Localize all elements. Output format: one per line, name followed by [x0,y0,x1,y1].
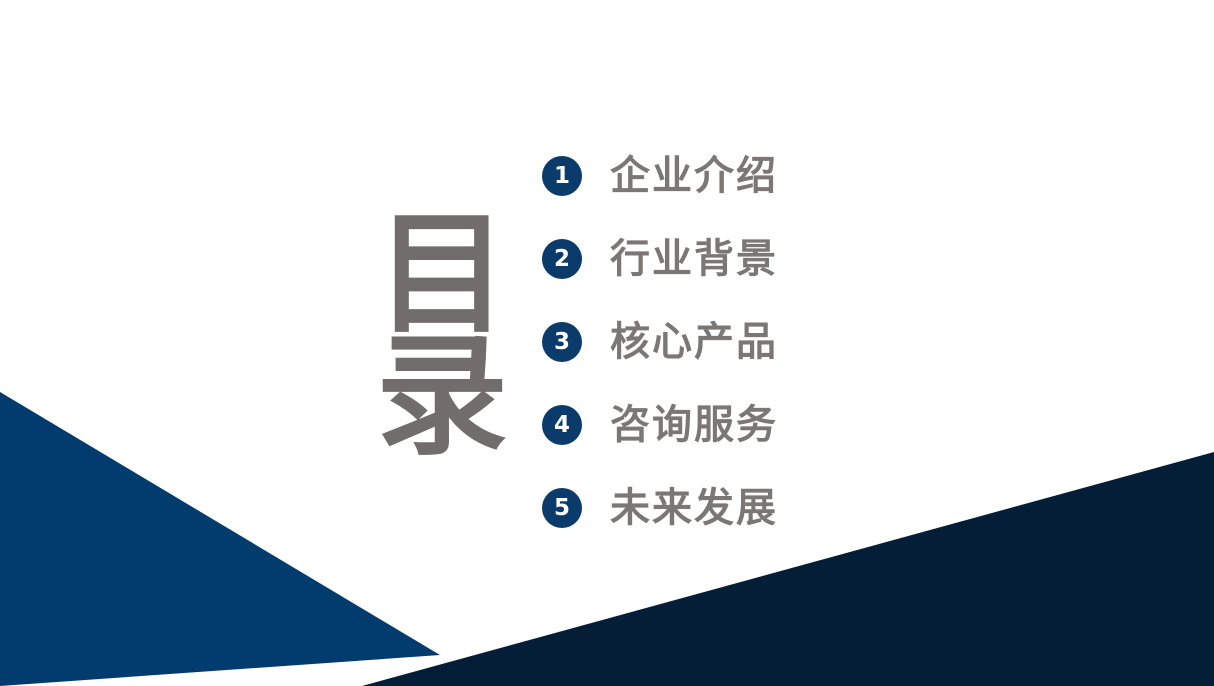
agenda-slide: 目 录 1 企业介绍 2 行业背景 3 核心产品 4 咨询服务 [0,0,1214,686]
agenda-item-label: 行业背景 [610,237,778,281]
agenda-item-label: 核心产品 [610,320,778,364]
badge-number: 5 [542,488,582,528]
list-item[interactable]: 2 行业背景 [538,217,778,300]
number-badge-icon: 5 [542,488,582,528]
badge-number: 2 [542,239,582,279]
agenda-item-label: 未来发展 [610,486,778,530]
number-badge-icon: 3 [542,322,582,362]
title-char-1: 目 [372,214,512,336]
number-badge-icon: 2 [542,239,582,279]
badge-number: 3 [542,322,582,362]
agenda-list: 1 企业介绍 2 行业背景 3 核心产品 4 咨询服务 5 未 [538,134,778,549]
list-item[interactable]: 5 未来发展 [538,466,778,549]
number-badge-icon: 1 [542,156,582,196]
list-item[interactable]: 3 核心产品 [538,300,778,383]
badge-number: 4 [542,405,582,445]
title-char-2: 录 [372,336,512,458]
list-item[interactable]: 1 企业介绍 [538,134,778,217]
agenda-item-label: 咨询服务 [610,403,778,447]
list-item[interactable]: 4 咨询服务 [538,383,778,466]
number-badge-icon: 4 [542,405,582,445]
navy-shape-bottom-right [362,452,1214,686]
page-title: 目 录 [372,214,512,458]
agenda-item-label: 企业介绍 [610,154,778,198]
badge-number: 1 [542,156,582,196]
